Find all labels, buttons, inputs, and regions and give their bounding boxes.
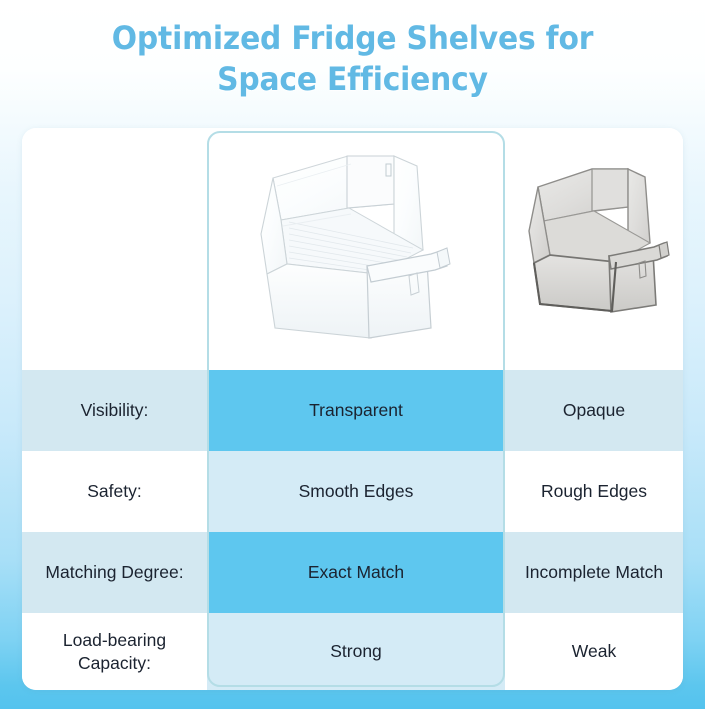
cell-ours-load-bearing-capacity: Strong [207,613,505,690]
image-row-spacer [22,128,207,370]
opaque-fridge-drawer-image [511,128,677,370]
cell-theirs-matching-degree: Incomplete Match [505,532,683,613]
comparison-grid: Visibility: Transparent Opaque Safety: S… [22,128,683,690]
cell-ours-matching-degree: Exact Match [207,532,505,613]
cell-theirs-visibility: Opaque [505,370,683,451]
row-label-load-bearing-line2: Capacity: [78,653,151,673]
row-label-load-bearing-line1: Load-bearing [63,630,166,650]
cell-theirs-safety: Rough Edges [505,451,683,532]
cell-ours-safety: Smooth Edges [207,451,505,532]
transparent-fridge-drawer-image [213,128,499,370]
row-label-safety: Safety: [22,451,207,532]
page-title: Optimized Fridge Shelves for Space Effic… [0,18,705,100]
comparison-card: Visibility: Transparent Opaque Safety: S… [22,128,683,690]
cell-ours-visibility: Transparent [207,370,505,451]
row-label-visibility: Visibility: [22,370,207,451]
infographic-page: Optimized Fridge Shelves for Space Effic… [0,0,705,709]
title-line-1: Optimized Fridge Shelves for [25,18,681,59]
cell-theirs-load-bearing-capacity: Weak [505,613,683,690]
product-image-ours-cell [207,128,505,370]
title-line-2: Space Efficiency [25,59,681,100]
product-image-theirs-cell [505,128,683,370]
row-label-load-bearing-capacity: Load-bearing Capacity: [22,613,207,690]
row-label-matching-degree: Matching Degree: [22,532,207,613]
